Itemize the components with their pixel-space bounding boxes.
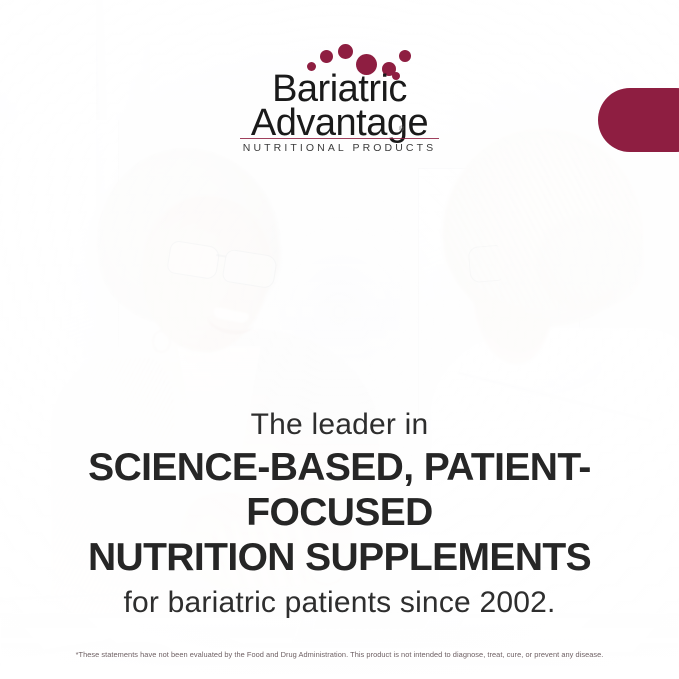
headline-block: The leader in SCIENCE-BASED, PATIENT-FOC… <box>0 408 679 620</box>
headline-main-line-2: NUTRITION SUPPLEMENTS <box>0 535 679 580</box>
legal-disclaimer: *These statements have not been evaluate… <box>0 650 679 659</box>
logo-dot-3 <box>338 44 353 59</box>
logo-divider-rule <box>240 138 439 139</box>
headline-subline: for bariatric patients since 2002. <box>0 586 679 620</box>
headline-eyebrow: The leader in <box>0 408 679 442</box>
marketing-banner: Bariatric Advantage ® NUTRITIONAL PRODUC… <box>0 0 679 679</box>
headline-main-line-1: SCIENCE-BASED, PATIENT-FOCUSED <box>88 446 591 534</box>
logo-dot-6 <box>399 50 411 62</box>
logo-tagline: NUTRITIONAL PRODUCTS <box>232 142 447 154</box>
registered-trademark-symbol: ® <box>399 126 404 133</box>
brand-logo: Bariatric Advantage ® NUTRITIONAL PRODUC… <box>232 42 447 154</box>
maroon-pill-shape <box>598 88 679 152</box>
headline-main: SCIENCE-BASED, PATIENT-FOCUSED NUTRITION… <box>0 445 679 581</box>
logo-dot-2 <box>320 50 333 63</box>
